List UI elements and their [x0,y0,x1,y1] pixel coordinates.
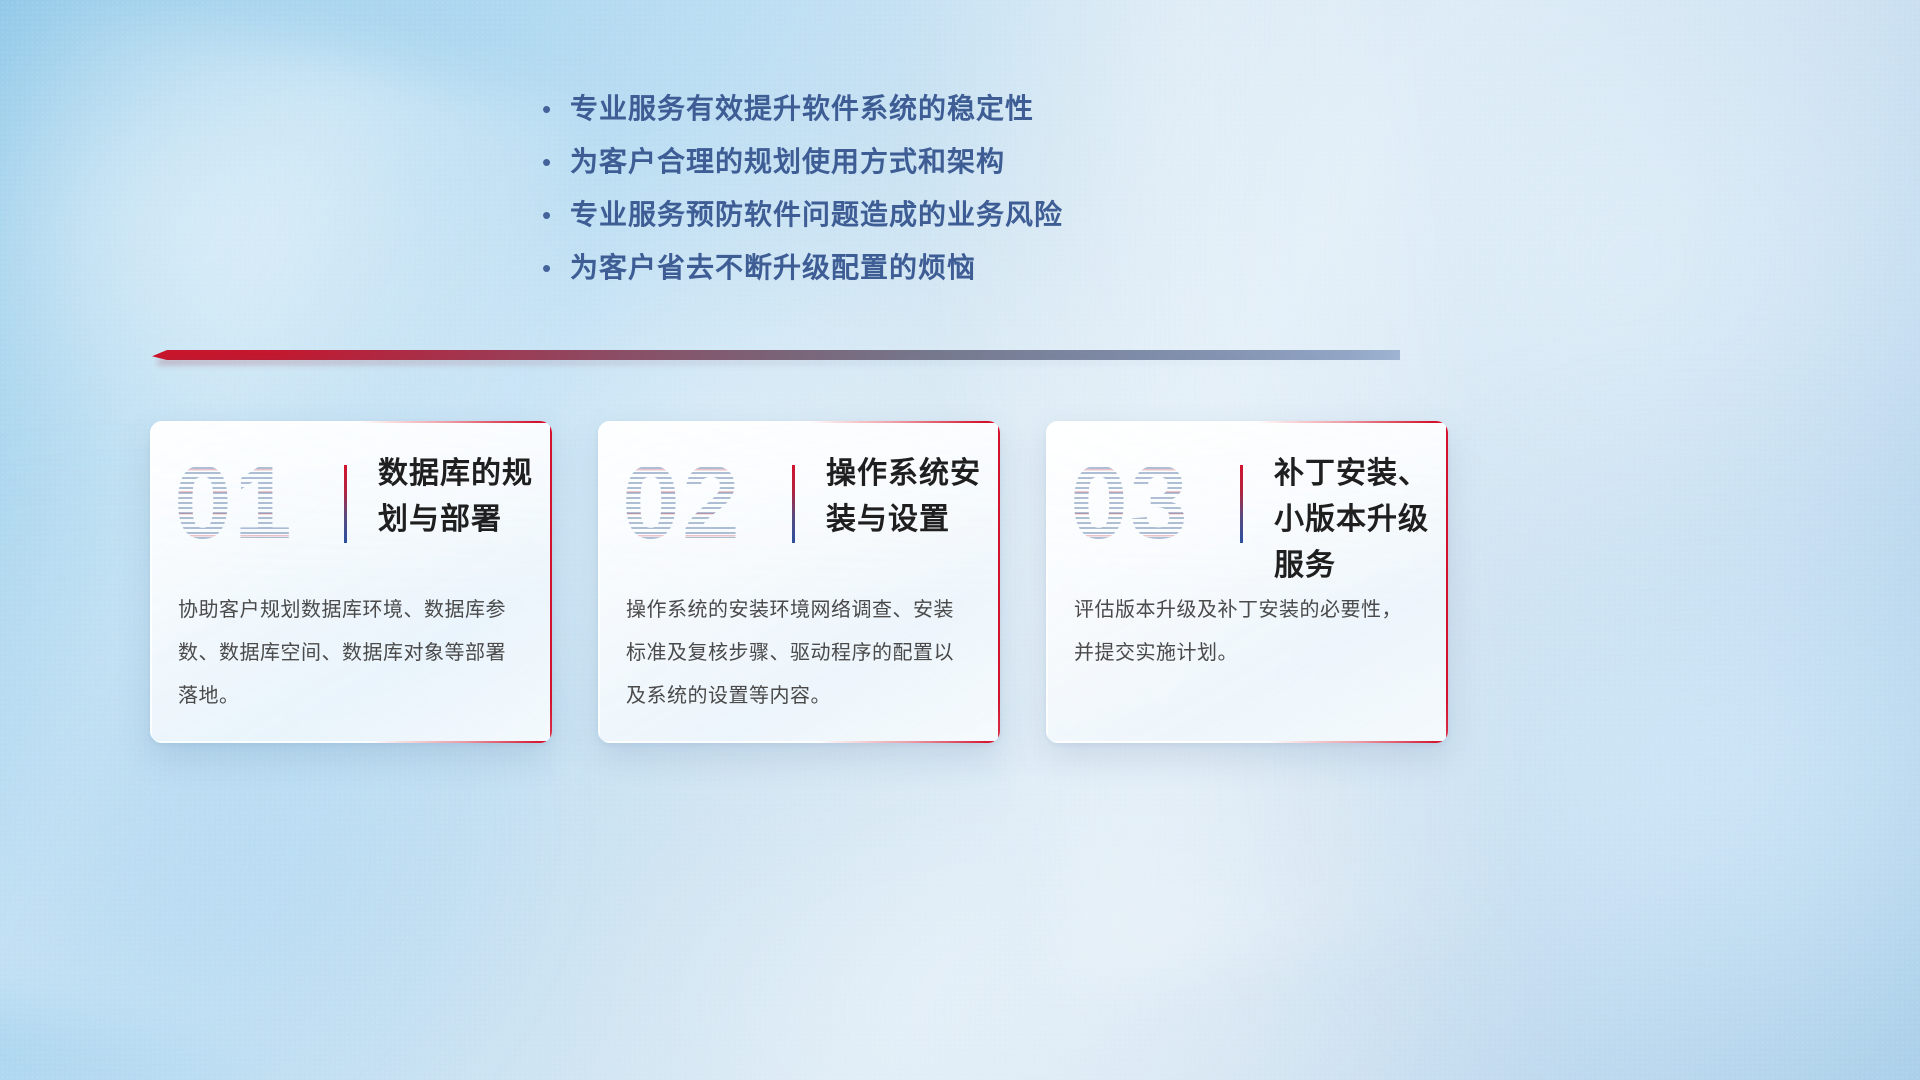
list-item: • 专业服务有效提升软件系统的稳定性 [536,88,1296,141]
card-top-border [1046,421,1448,423]
card-header: 02 02 操作系统安装与设置 [598,443,1000,563]
section-divider [152,344,1400,368]
card-top-border [150,421,552,423]
bullet-text-3: 专业服务预防软件问题造成的业务风险 [570,194,1063,236]
card-title: 补丁安装、小版本升级服务 [1274,451,1430,589]
bullet-dot-icon: • [536,88,570,130]
card-description: 操作系统的安装环境网络调查、安装标准及复核步骤、驱动程序的配置以及系统的设置等内… [626,589,974,718]
bullet-text-1: 专业服务有效提升软件系统的稳定性 [570,88,1034,130]
divider-shadow [158,359,1394,365]
benefits-bullet-list: • 专业服务有效提升软件系统的稳定性 • 为客户合理的规划使用方式和架构 • 专… [536,88,1296,300]
list-item: • 专业服务预防软件问题造成的业务风险 [536,194,1296,247]
card-title: 数据库的规划与部署 [378,451,534,543]
service-card-03[interactable]: 03 03 补丁安装、小版本升级服务 评估版本升级及补丁安装的必要性，并提交实施… [1046,421,1448,743]
card-divider-bar [1240,465,1243,543]
bullet-dot-icon: • [536,247,570,289]
bullet-text-4: 为客户省去不断升级配置的烦恼 [570,247,976,289]
card-divider-bar [344,465,347,543]
bullet-dot-icon: • [536,141,570,183]
card-description: 协助客户规划数据库环境、数据库参数、数据库空间、数据库对象等部署落地。 [178,589,526,718]
card-divider-bar [792,465,795,543]
service-card-02[interactable]: 02 02 操作系统安装与设置 操作系统的安装环境网络调查、安装标准及复核步骤、… [598,421,1000,743]
list-item: • 为客户省去不断升级配置的烦恼 [536,247,1296,300]
card-description: 评估版本升级及补丁安装的必要性，并提交实施计划。 [1074,589,1422,675]
card-header: 01 01 数据库的规划与部署 [150,443,552,563]
card-bottom-border [150,741,552,743]
service-card-list: 01 01 数据库的规划与部署 协助客户规划数据库环境、数据库参数、数据库空间、… [150,421,1450,743]
card-top-border [598,421,1000,423]
bullet-dot-icon: • [536,194,570,236]
card-number-watermark: 01 [174,447,294,559]
card-number-watermark: 03 [1070,447,1190,559]
card-header: 03 03 补丁安装、小版本升级服务 [1046,443,1448,563]
bullet-text-2: 为客户合理的规划使用方式和架构 [570,141,1005,183]
service-card-01[interactable]: 01 01 数据库的规划与部署 协助客户规划数据库环境、数据库参数、数据库空间、… [150,421,552,743]
card-bottom-border [598,741,1000,743]
list-item: • 为客户合理的规划使用方式和架构 [536,141,1296,194]
card-number-watermark: 02 [622,447,742,559]
card-title: 操作系统安装与设置 [826,451,982,543]
card-bottom-border [1046,741,1448,743]
